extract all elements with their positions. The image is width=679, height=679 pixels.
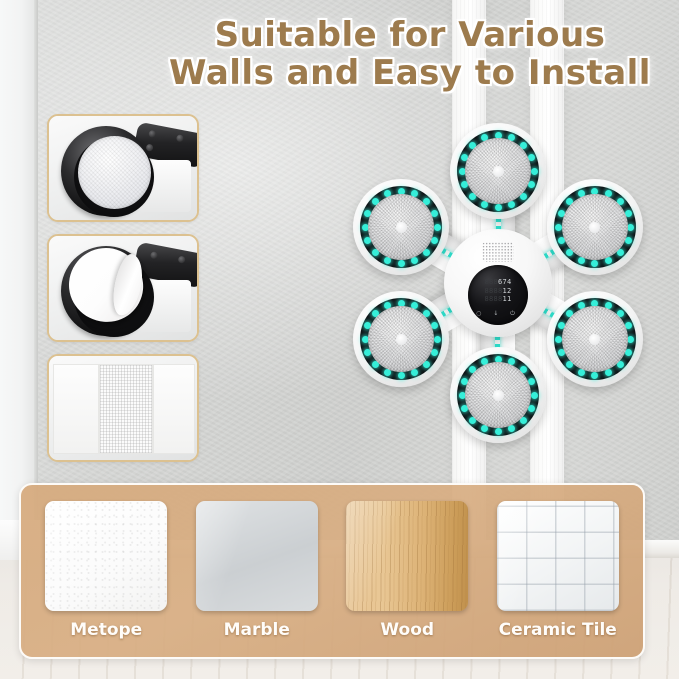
target-pad-1[interactable]	[353, 179, 449, 275]
target-pad-2[interactable]	[450, 123, 546, 219]
product-feature-image: Suitable for Various Walls and Easy to I…	[0, 0, 679, 679]
led-dot	[495, 428, 502, 435]
target-pad-6[interactable]	[353, 291, 449, 387]
screw-icon	[146, 144, 154, 152]
adhesive-strip	[99, 364, 153, 454]
pad-center-dot	[493, 390, 504, 401]
material-swatch-cell[interactable]: Metope	[41, 501, 171, 640]
pad-center-dot	[493, 166, 504, 177]
swatch-label: Metope	[70, 620, 142, 640]
pad-center-dot	[589, 334, 600, 345]
material-swatch-cell[interactable]: Wood	[342, 501, 472, 640]
adhesive-strip	[153, 364, 195, 454]
gloss-overlay	[346, 501, 418, 611]
materials-panel: Metope Marble Wood Ceramic Tile	[19, 483, 645, 659]
material-swatch-cell[interactable]: Marble	[192, 501, 322, 640]
display-status-icons: ○ ↓ ⏻	[468, 310, 528, 318]
adhesive-strip	[53, 364, 99, 454]
gloss-overlay	[45, 501, 117, 611]
swatch-label: Wood	[380, 620, 434, 640]
screw-icon	[148, 130, 156, 138]
device-rear-photo	[53, 120, 185, 216]
target-pad-4[interactable]	[547, 291, 643, 387]
display-readout: 888674 888812 888811	[472, 278, 524, 304]
swatch-label: Ceramic Tile	[499, 620, 617, 640]
headline-line-2: Walls and Easy to Install	[150, 54, 670, 92]
device-display: 888674 888812 888811 ○ ↓ ⏻	[468, 265, 528, 325]
pad-mesh-surface	[562, 194, 628, 260]
display-row-3: 888811	[472, 295, 524, 304]
pad-mesh-surface	[368, 306, 434, 372]
gloss-overlay	[497, 501, 569, 611]
pad-center-dot	[396, 222, 407, 233]
led-dot	[495, 204, 502, 211]
target-pad-5[interactable]	[450, 347, 546, 443]
led-dot	[531, 168, 538, 175]
led-dot	[627, 336, 634, 343]
material-swatch-cell[interactable]: Ceramic Tile	[493, 501, 623, 640]
speaker-grille-icon	[482, 242, 514, 262]
device-hexagonal-board: 888674 888812 888811 ○ ↓ ⏻	[348, 138, 648, 428]
pad-mesh-surface	[465, 362, 531, 428]
pad-center-dot	[396, 334, 407, 345]
swatch-wood	[346, 501, 468, 611]
install-step-thumbnail-1	[47, 114, 199, 222]
led-dot	[398, 372, 405, 379]
wall-corner-edge	[34, 0, 38, 556]
led-dot	[434, 224, 441, 231]
pad-mesh-surface	[465, 138, 531, 204]
led-dot	[627, 224, 634, 231]
headline-line-1: Suitable for Various	[215, 15, 606, 55]
device-rear-photo	[53, 240, 185, 336]
device-center-hub[interactable]: 888674 888812 888811 ○ ↓ ⏻	[444, 229, 552, 337]
display-row-1: 888674	[472, 278, 524, 287]
led-dot	[434, 336, 441, 343]
pad-center-dot	[589, 222, 600, 233]
led-dot	[591, 372, 598, 379]
pad-black-ring	[61, 126, 151, 216]
led-dot	[591, 260, 598, 267]
gloss-overlay	[196, 501, 268, 611]
pad-mesh-surface	[368, 194, 434, 260]
screw-icon	[178, 256, 186, 264]
install-step-thumbnail-3	[47, 354, 199, 462]
led-dot	[398, 260, 405, 267]
swatch-metope	[45, 501, 167, 611]
screw-icon	[176, 134, 184, 142]
led-dot	[531, 392, 538, 399]
screw-icon	[150, 251, 158, 259]
swatch-marble	[196, 501, 318, 611]
swatch-ceramic-tile	[497, 501, 619, 611]
install-step-thumbnail-2	[47, 234, 199, 342]
pad-mesh-surface	[562, 306, 628, 372]
target-pad-3[interactable]	[547, 179, 643, 275]
page-title: Suitable for Various Walls and Easy to I…	[150, 16, 670, 92]
wall-corner-return	[0, 0, 36, 556]
swatch-label: Marble	[224, 620, 290, 640]
display-row-2: 888812	[472, 287, 524, 296]
adhesive-pad	[78, 136, 151, 209]
